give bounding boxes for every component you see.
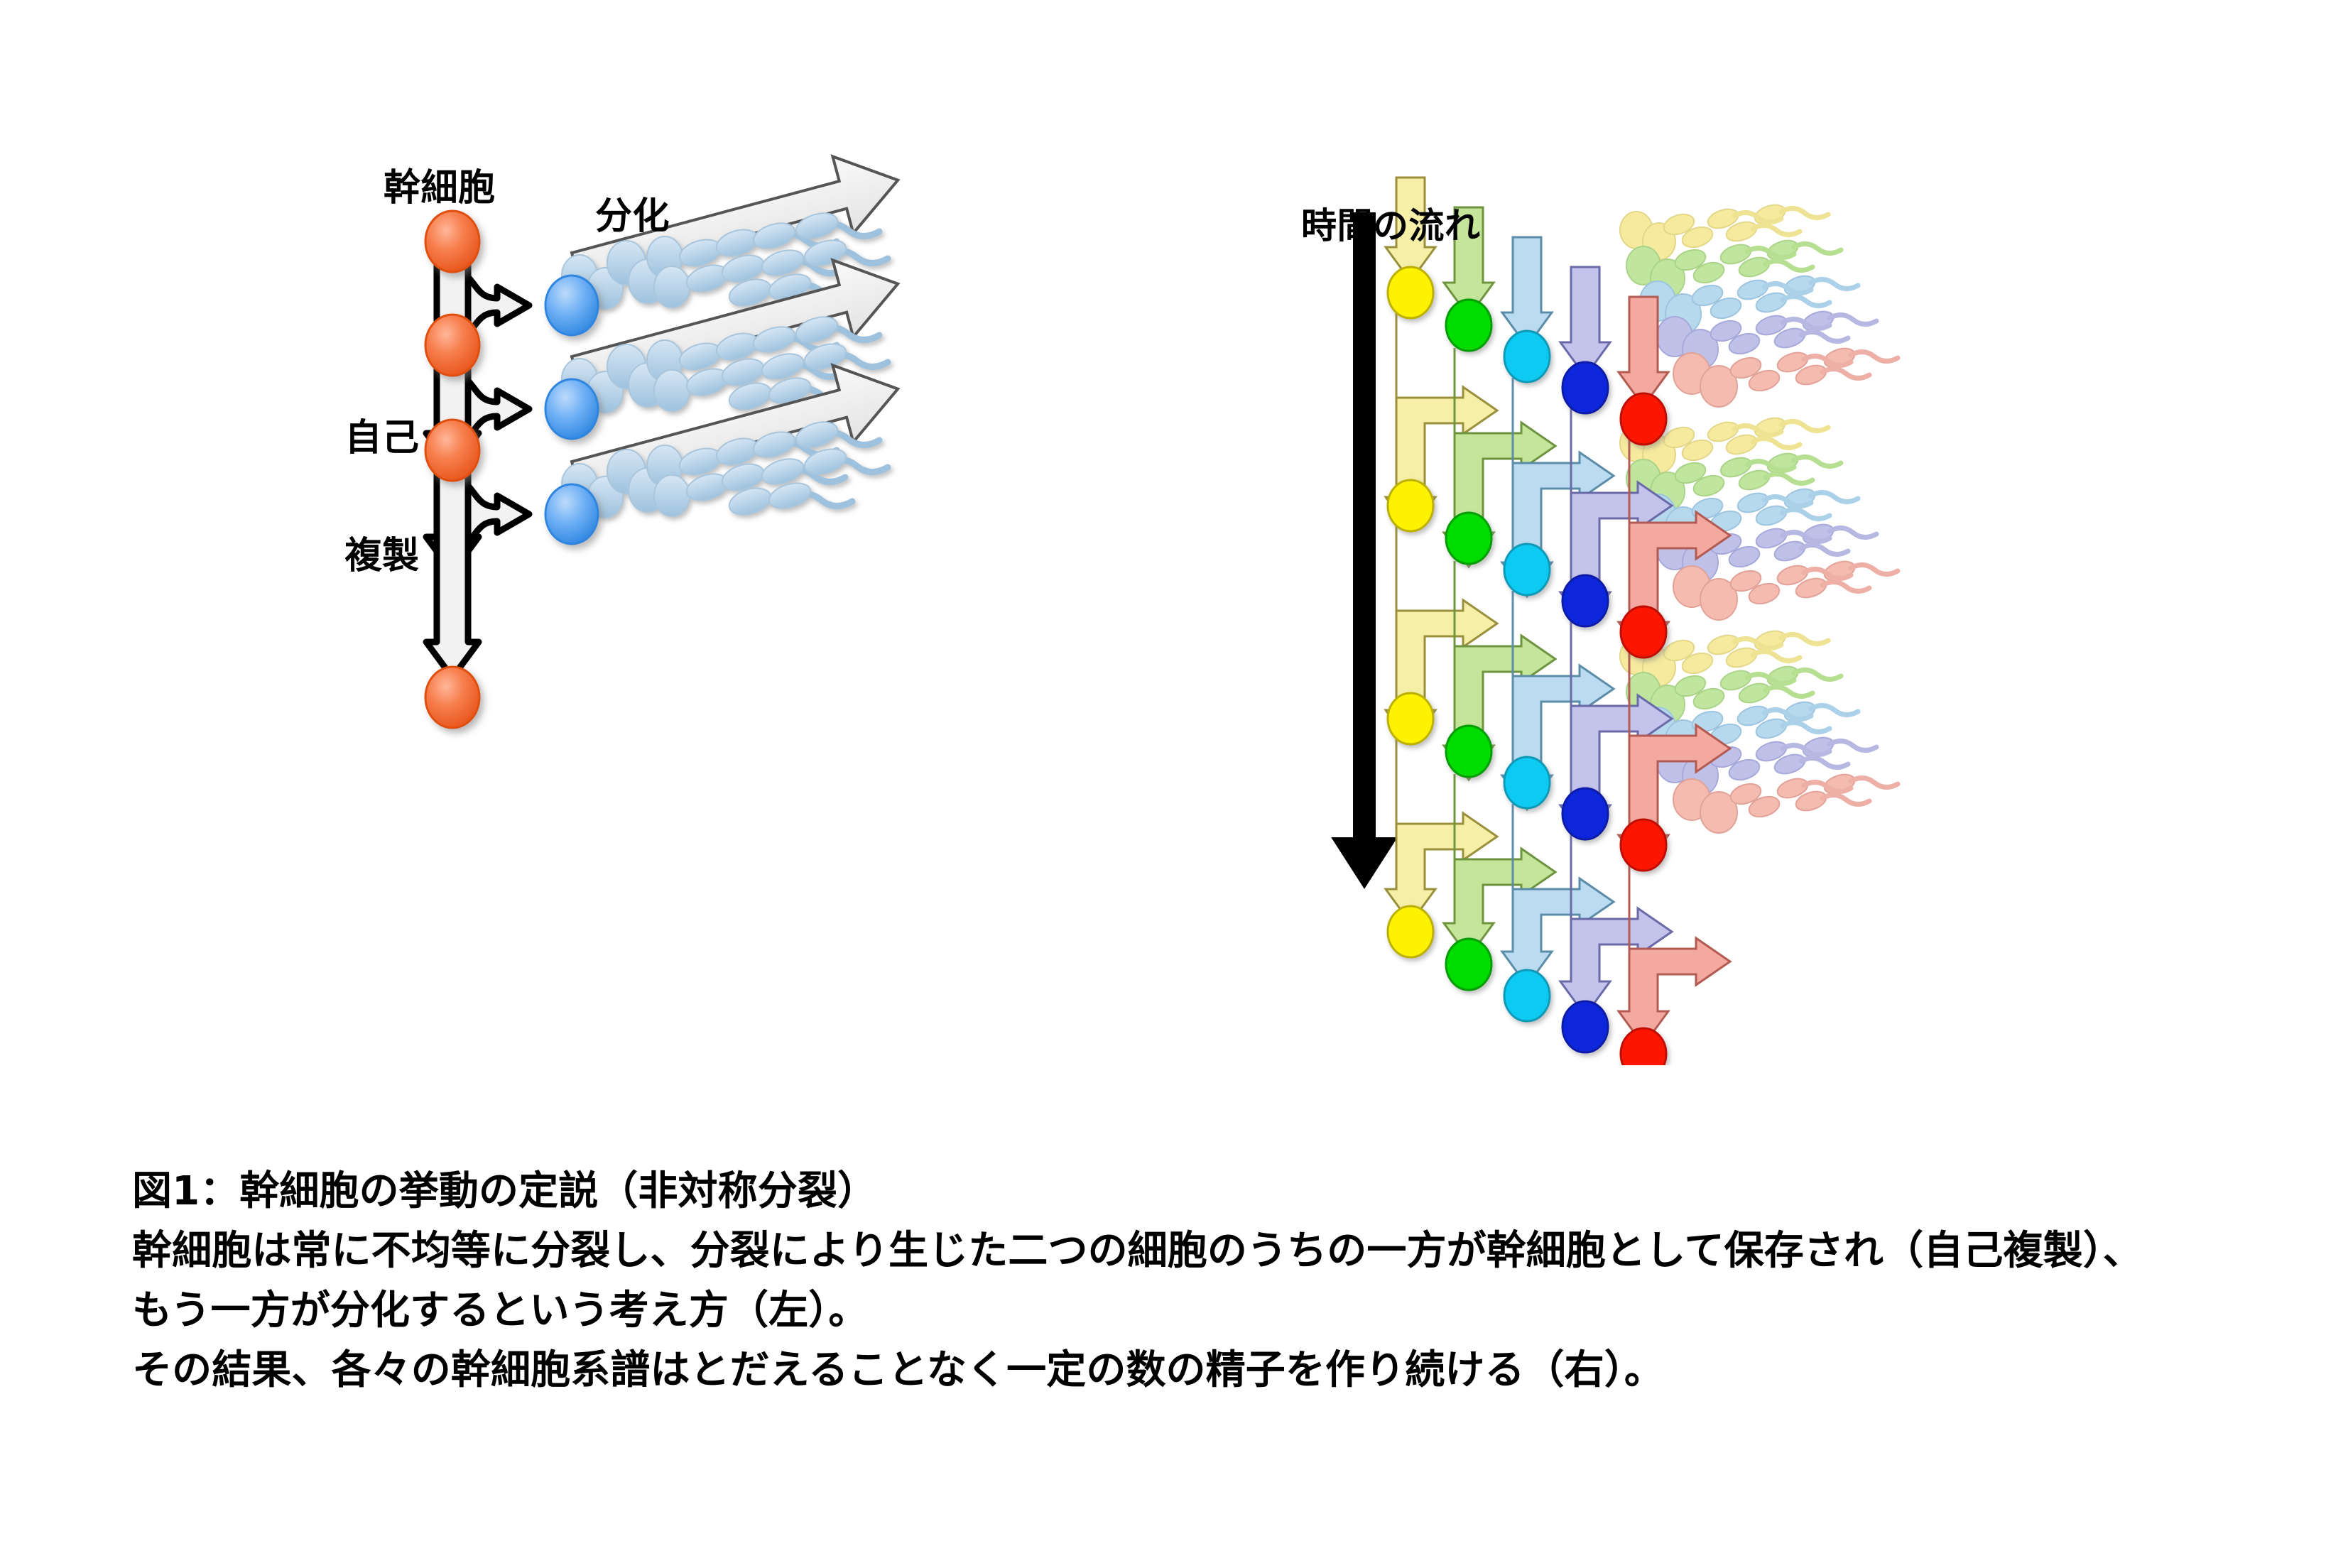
figure-root: 幹細胞 分化 自己 複製 時間の流れ 図1：幹細胞の挙動の定説（非対称分裂） 幹… xyxy=(0,0,2348,1568)
daughter-cell xyxy=(545,484,598,544)
caption-line-title: 図1：幹細胞の挙動の定説（非対称分裂） xyxy=(132,1162,2263,1221)
caption-line-4: その結果、各々の幹細胞系譜はとだえることなく一定の数の精子を作り続ける（右）。 xyxy=(132,1341,2263,1400)
time-flow-arrow xyxy=(1332,213,1396,888)
daughter-cell xyxy=(545,276,598,335)
lineage-cell-red xyxy=(1621,1028,1666,1065)
lineage-cell-blue xyxy=(1562,362,1608,413)
lineage-cell-yellow xyxy=(1388,267,1433,318)
stem-cell xyxy=(425,211,479,272)
stem-cell-label: 幹細胞 xyxy=(384,158,496,211)
lineage-cell-green xyxy=(1446,939,1491,990)
lineage-cell-blue xyxy=(1562,1001,1608,1052)
lineage-cell-red xyxy=(1621,393,1666,445)
lineage-cell-red xyxy=(1621,606,1666,658)
caption-line-3: もう一方が分化するという考え方（左）。 xyxy=(132,1281,2263,1341)
lineage-cell-cyan xyxy=(1504,331,1550,382)
lineage-cell-green xyxy=(1446,300,1491,351)
lineage-cell-red xyxy=(1621,820,1666,871)
figure-caption: 図1：幹細胞の挙動の定説（非対称分裂） 幹細胞は常に不均等に分裂し、分裂により生… xyxy=(132,1162,2263,1400)
lineage-cell-green xyxy=(1446,513,1491,564)
lineage-cell-cyan xyxy=(1504,757,1550,808)
lineage-cell-cyan xyxy=(1504,970,1550,1021)
lineage-cell-blue xyxy=(1562,788,1608,839)
lineage-cell-yellow xyxy=(1388,906,1433,957)
time-flow-label: 時間の流れ xyxy=(1301,207,1341,244)
lineage-sperm-group-2 xyxy=(1620,415,1898,620)
lineage-cell-yellow xyxy=(1388,693,1433,744)
self-renewal-label: 自己 複製 xyxy=(318,341,446,654)
lineage-cell-yellow xyxy=(1388,480,1433,531)
differentiation-label: 分化 xyxy=(595,186,670,239)
stem-cell xyxy=(425,667,479,728)
caption-line-2: 幹細胞は常に不均等に分裂し、分裂により生じた二つの細胞のうちの一方が幹細胞として… xyxy=(132,1221,2263,1281)
lineage-cell-cyan xyxy=(1504,544,1550,595)
lineage-cell-blue xyxy=(1562,575,1608,626)
daughter-cell xyxy=(545,379,598,439)
self-renewal-label-line2: 複製 xyxy=(318,537,446,576)
daughter-cell-column xyxy=(545,276,598,544)
self-renewal-label-line1: 自己 xyxy=(318,419,446,458)
lineage-cell-green xyxy=(1446,726,1491,777)
lineage-sperm-group-3 xyxy=(1620,628,1898,833)
right-panel-group xyxy=(1332,178,1898,1065)
